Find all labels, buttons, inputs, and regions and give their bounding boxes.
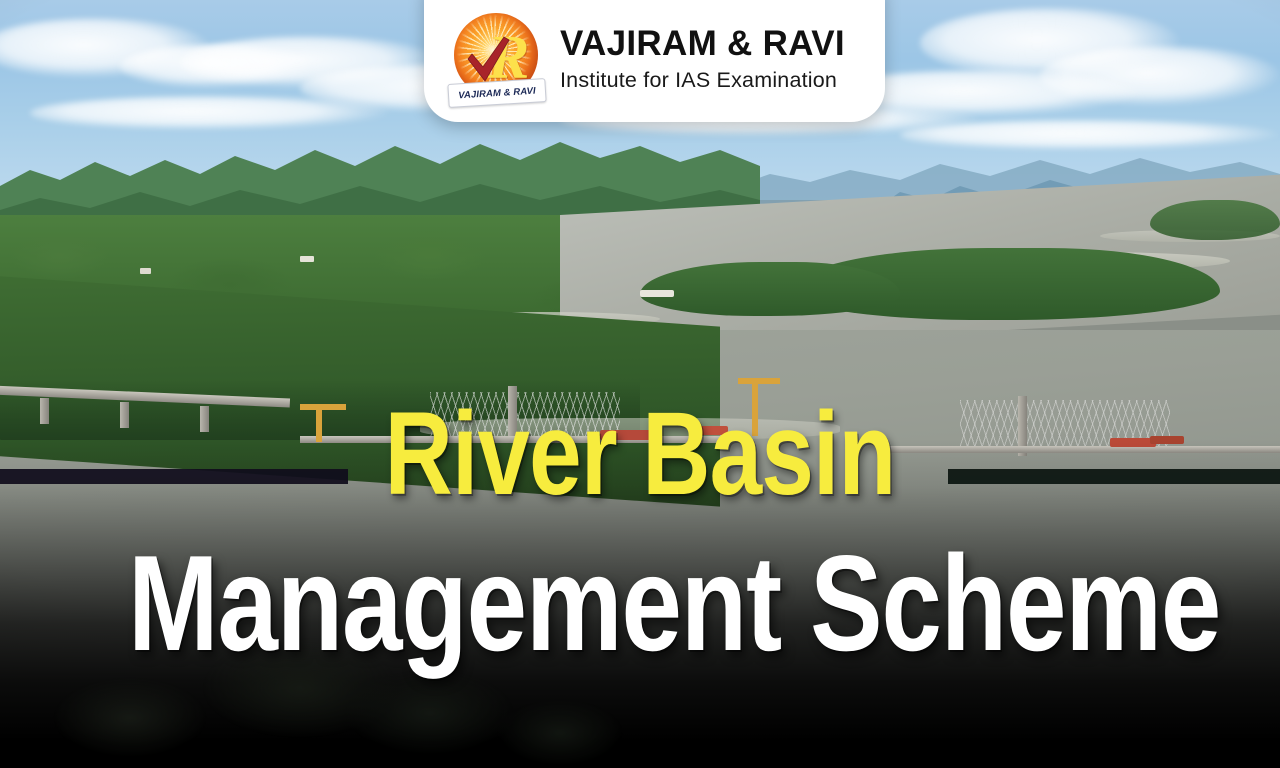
banner-root: R VAJIRAM & RAVI VAJIRAM & RAVI Institut… [0,0,1280,768]
brand-name: VAJIRAM & RAVI [560,26,845,61]
brand-tagline: Institute for IAS Examination [560,68,845,93]
sunburst-checkmark-icon: R VAJIRAM & RAVI [448,11,544,111]
foreground-foliage-silhouette [0,568,1280,768]
logo-card[interactable]: R VAJIRAM & RAVI VAJIRAM & RAVI Institut… [424,0,885,122]
checkmark-icon [464,35,514,85]
logo-text-block: VAJIRAM & RAVI Institute for IAS Examina… [560,26,845,93]
emblem-ribbon: VAJIRAM & RAVI [447,78,546,108]
emblem-ribbon-text: VAJIRAM & RAVI [458,85,536,101]
